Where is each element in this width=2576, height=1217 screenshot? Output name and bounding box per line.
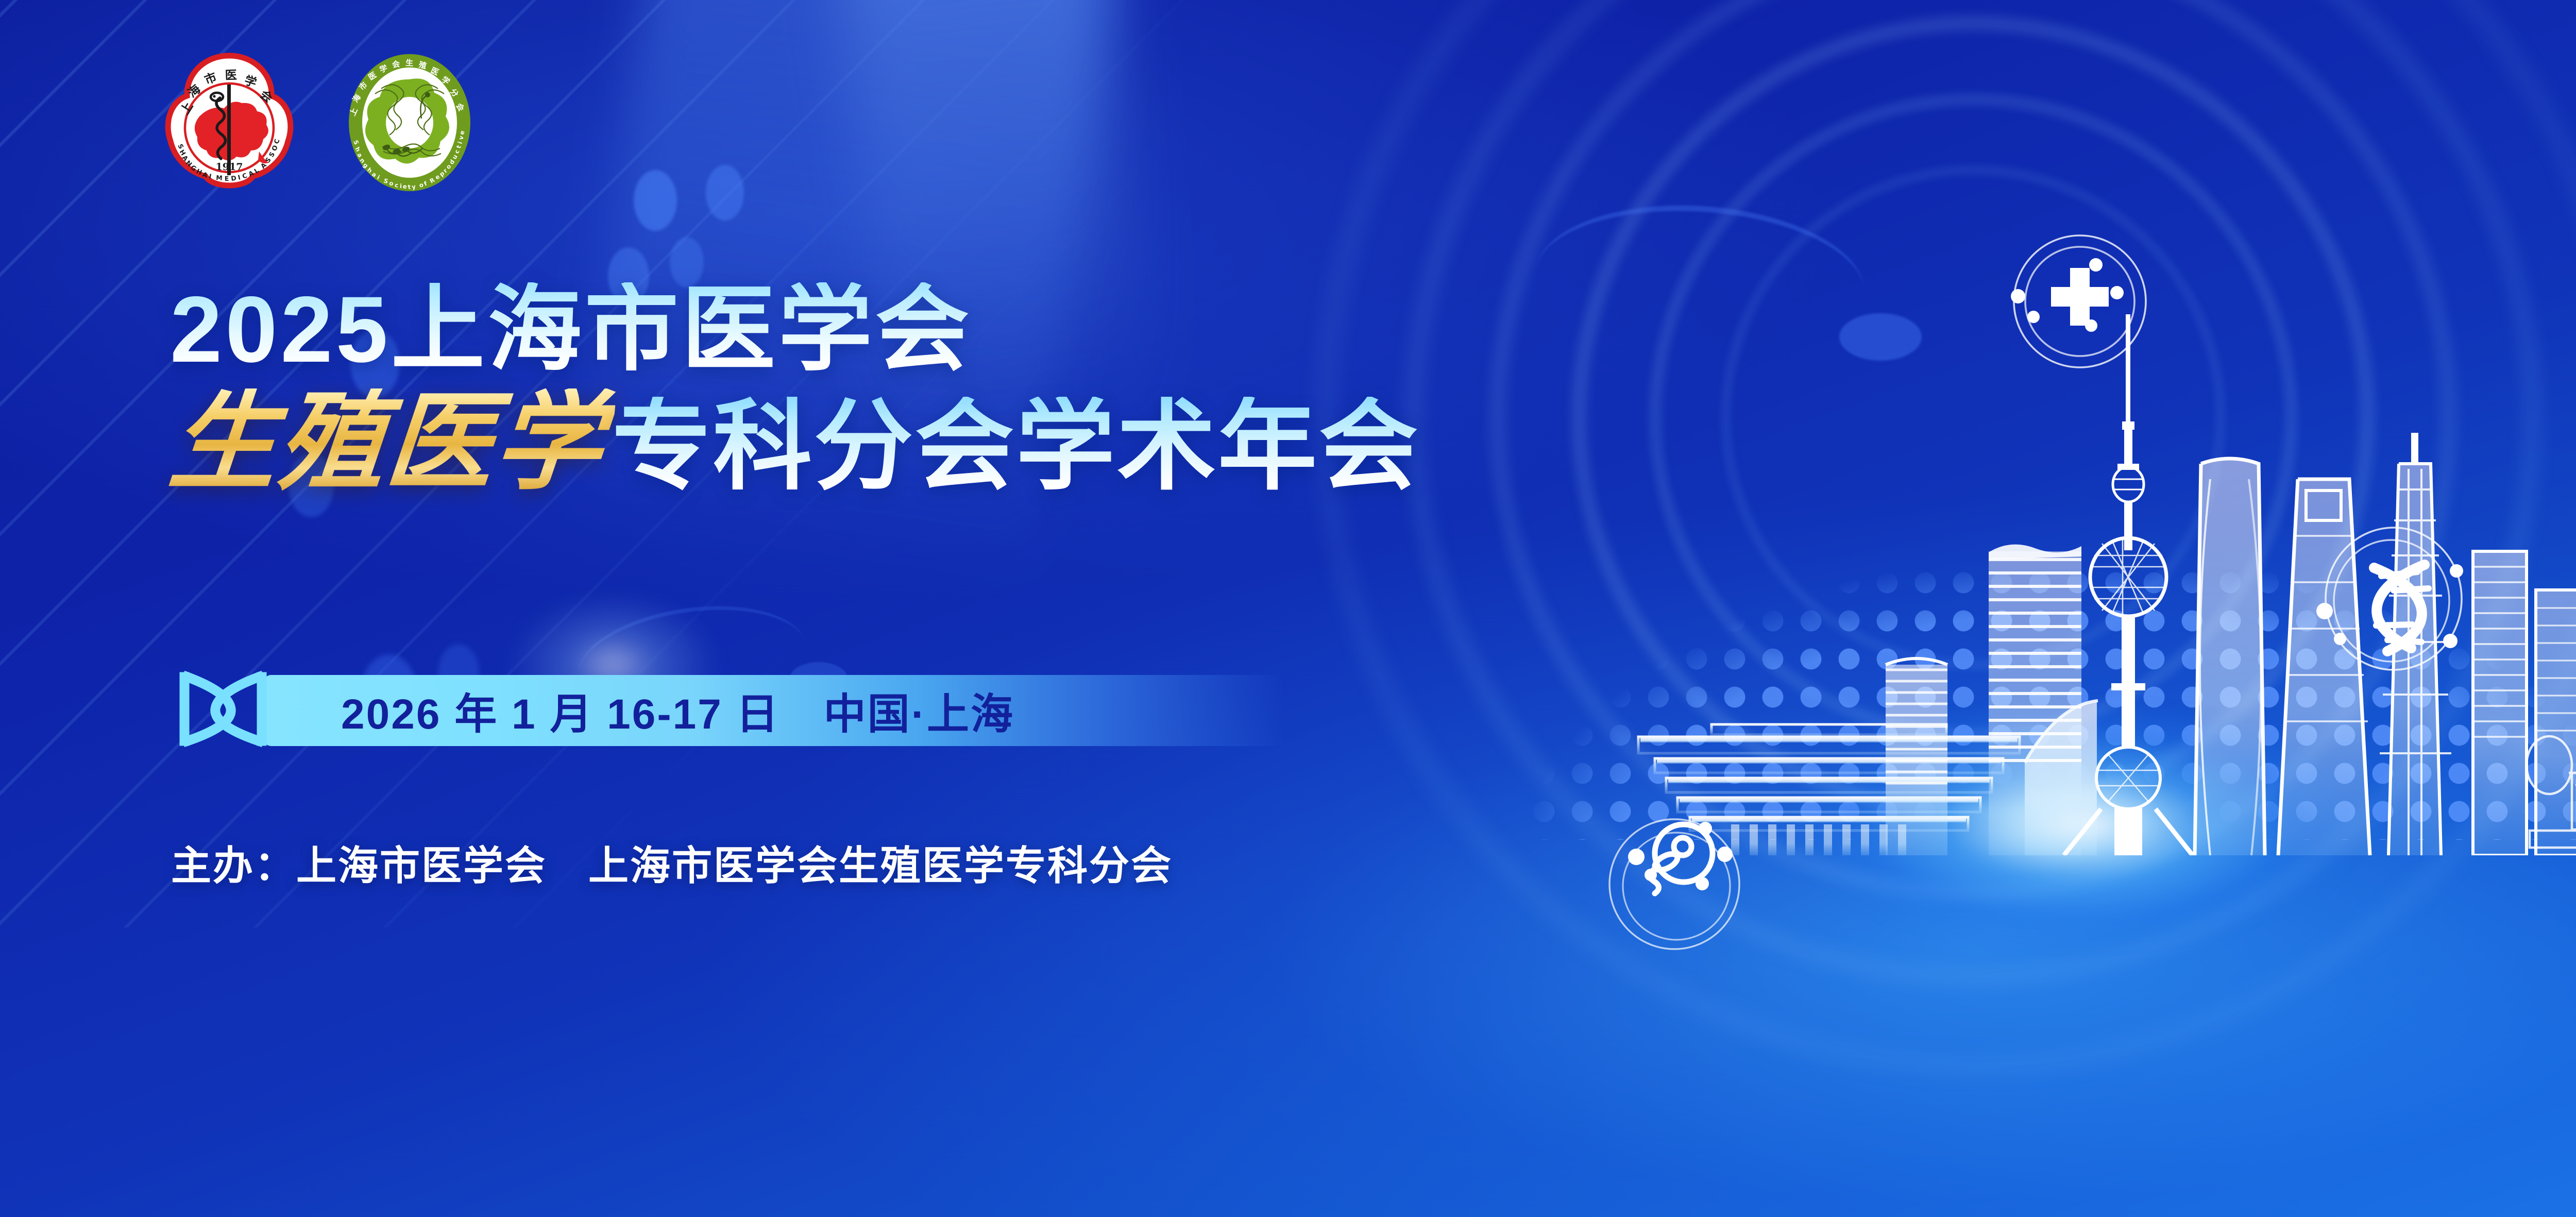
title-gold-text: 生殖医学 [165, 388, 617, 496]
date-location-text: 2026 年 1 月 16-17 日 中国·上海 [341, 680, 1014, 741]
svg-text:生: 生 [405, 58, 414, 68]
bokeh-dot [706, 165, 744, 221]
shanghai-society-reproductive-medicine-logo: 上 海 市 医 学 会 生 殖 医 学 分 会 S h a [345, 50, 474, 197]
svg-text:e: e [403, 183, 407, 190]
bokeh-dot [634, 170, 677, 231]
title-cyan-text: 专科分会学术年会 [612, 397, 1420, 496]
svg-text:i: i [400, 182, 402, 190]
svg-text:会: 会 [392, 59, 401, 70]
svg-text:M: M [216, 174, 223, 182]
sperm-egg-orbit-badge [1596, 808, 1755, 967]
shanghai-medical-association-logo: 上 海 市 医 学 会 1917 S H A N G H A [162, 50, 296, 197]
organizer-line: 主办：上海市医学会 上海市医学会生殖医学专科分会 [171, 834, 1173, 891]
date-location-row: 2026 年 1 月 16-17 日 中国·上海 [169, 668, 1284, 753]
svg-text:医: 医 [225, 69, 237, 82]
svg-text:1917: 1917 [216, 161, 243, 173]
title-line-2: 生殖医学 专科分会学术年会 [170, 388, 1420, 496]
title-line-1: 2025上海市医学会 [170, 282, 1420, 376]
logo-group: 上 海 市 医 学 会 1917 S H A N G H A [162, 50, 474, 197]
svg-text:E: E [225, 175, 229, 182]
svg-text:c: c [395, 181, 399, 189]
medical-cross-orbit-badge [1995, 216, 2165, 386]
light-ribbon [0, 946, 2576, 1217]
title-block: 2025上海市医学会 生殖医学 专科分会学术年会 [170, 282, 1420, 496]
dna-helix-icon [169, 668, 277, 753]
dna-orbit-badge [2303, 510, 2478, 685]
svg-text:D: D [230, 174, 236, 182]
light-ribbon [0, 909, 2576, 1217]
date-bar: 2026 年 1 月 16-17 日 中国·上海 [264, 675, 1284, 746]
conference-banner: 上 海 市 医 学 会 1917 S H A N G H A [0, 0, 2576, 1217]
